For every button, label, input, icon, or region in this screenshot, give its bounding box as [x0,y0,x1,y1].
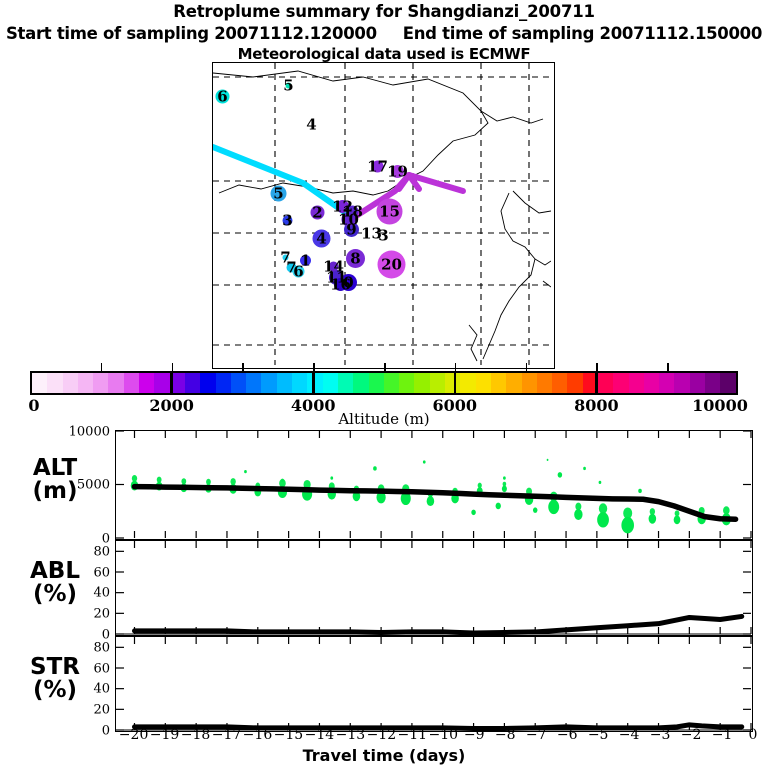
x-tick-label: −3 [650,727,671,743]
abl-panel[interactable] [115,540,753,636]
altitude-blob [423,460,426,463]
x-tick-label: −20 [119,727,149,743]
colorbar-swatch [47,373,62,393]
x-tick-label: −16 [243,727,273,743]
colorbar-swatch [185,373,200,393]
colorbar-swatch [139,373,154,393]
colorbar-swatch [292,373,307,393]
colorbar-swatch [399,373,414,393]
day-marker [377,199,403,225]
abl-y-tick-labels: 020406080 [58,540,110,636]
altitude-blob [471,510,476,516]
colorbar-tick [526,363,528,371]
colorbar-swatch [705,373,720,393]
colorbar-swatch [598,373,613,393]
altitude-blob [583,467,586,470]
y-tick-label: 0 [102,723,110,738]
colorbar-swatch [491,373,506,393]
day-marker [283,216,293,226]
altitude-blob [575,503,581,511]
altitude-blob [621,517,634,534]
x-tick-label: −7 [526,727,547,743]
x-tick-label: 0 [749,727,758,743]
y-tick-label: 20 [93,702,110,717]
colorbar-swatch [613,373,628,393]
colorbar-swatch [430,373,445,393]
colorbar-swatch [154,373,169,393]
colorbar-divider [312,371,315,395]
altitude-blob [638,489,642,493]
x-tick-label: −18 [181,727,211,743]
mean-altitude-line [134,487,735,520]
day-marker [329,262,339,272]
y-tick-label: 20 [93,606,110,621]
met-data-label: Meteorological data used is ECMWF [0,45,768,63]
x-tick-label: −11 [398,727,428,743]
day-marker [372,161,384,173]
day-marker [313,230,331,248]
colorbar-swatch [277,373,292,393]
colorbar-tick [667,363,669,371]
colorbar-swatch [506,373,521,393]
colorbar-swatch [231,373,246,393]
x-tick-label: −19 [150,727,180,743]
colorbar-swatch [629,373,644,393]
altitude-blob [330,476,333,479]
day-marker [283,255,289,261]
colorbar-swatch [674,373,689,393]
x-tick-label: −2 [681,727,702,743]
altitude-blob [548,500,559,514]
day-marker [311,206,325,220]
altitude-blob [157,477,162,483]
x-tick-label: −13 [336,727,366,743]
colorbar-swatch [93,373,108,393]
day-marker [286,83,292,89]
alt-plot-canvas [116,431,751,538]
y-tick-label: 5000 [77,478,110,493]
colorbar-divider [595,371,598,395]
y-tick-label: 80 [93,640,110,655]
colorbar-swatch [537,373,552,393]
y-tick-label: 10000 [69,424,110,439]
x-tick-label: −17 [212,727,242,743]
altitude-blob [181,478,186,484]
x-tick-label: −8 [495,727,516,743]
altitude-blob [574,509,582,520]
x-tick-label: −10 [429,727,459,743]
end-time-label: End time of sampling 20071112.150000 [403,24,762,43]
colorbar-swatch [567,373,582,393]
altitude-blob [675,510,680,516]
altitude-blob [502,485,507,492]
altitude-colorbar[interactable] [30,371,738,395]
day-marker [216,90,230,104]
altitude-blob [599,481,602,484]
colorbar-swatch [353,373,368,393]
x-tick-label: −1 [712,727,733,743]
colorbar-swatch [246,373,261,393]
colorbar-swatch [369,373,384,393]
altitude-blob [244,470,247,473]
colorbar-swatch [108,373,123,393]
y-tick-label: 60 [93,661,110,676]
altitude-blob [533,507,538,513]
colorbar-tick [172,363,174,371]
colorbar-tick [313,363,315,371]
colorbar-swatch [552,373,567,393]
colorbar-swatch [659,373,674,393]
page-title: Retroplume summary for Shangdianzi_20071… [0,2,768,21]
colorbar-ticks [30,363,738,371]
str-y-tick-labels: 020406080 [58,636,110,732]
day-marker [293,266,305,278]
retroplume-map[interactable]: 0123456789101112131415161718192045376 [212,62,555,369]
colorbar-swatch [522,373,537,393]
y-tick-label: 40 [93,586,110,601]
colorbar-swatch [124,373,139,393]
x-tick-label: −6 [557,727,578,743]
colorbar-swatch [261,373,276,393]
colorbar-swatch [216,373,231,393]
altitude-blob [427,496,435,506]
altitude-blob [373,466,377,470]
colorbar-swatch [720,373,735,393]
alt-panel[interactable] [115,430,753,540]
altitude-blob [597,512,609,527]
altitude-blob [496,503,501,510]
altitude-blob [503,482,507,487]
colorbar-swatch [460,373,475,393]
colorbar-swatch [78,373,93,393]
altitude-blob [649,514,657,524]
altitude-blob [723,506,730,514]
str-panel[interactable] [115,636,753,732]
day-marker [366,228,377,239]
day-marker [347,206,359,218]
colorbar-divider [170,371,173,395]
colorbar-title: Altitude (m) [0,410,768,428]
altitude-blob [547,459,549,461]
x-tick-label: −12 [367,727,397,743]
x-tick-label: −14 [305,727,335,743]
abl-plot-canvas [116,541,751,634]
altitude-blob [206,479,211,485]
day-marker [346,249,365,268]
start-time-label: Start time of sampling 20071112.120000 [6,24,377,43]
x-tick-label: −5 [588,727,609,743]
altitude-blob [623,507,632,518]
day-marker [334,278,347,291]
x-axis-title: Travel time (days) [0,746,768,765]
day-marker [271,186,287,202]
trajectory-line-cyan [213,147,353,218]
day-marker [378,251,406,279]
x-tick-label: −15 [274,727,304,743]
x-axis-tick-labels: −20−19−18−17−16−15−14−13−12−11−10−9−8−7−… [115,727,753,745]
altitude-blob [132,475,137,482]
altitude-blob [650,508,655,515]
colorbar-swatch [338,373,353,393]
altitude-blob [503,476,506,479]
colorbar-tick [242,363,244,371]
alt-y-tick-labels: 0500010000 [58,430,110,540]
colorbar-tick [101,363,103,371]
altitude-blob [230,478,235,485]
altitude-blob [674,515,681,524]
y-tick-label: 60 [93,565,110,580]
day-marker [300,255,311,266]
y-tick-label: 40 [93,682,110,697]
colorbar-tick [596,363,598,371]
altitude-blob [599,503,607,514]
colorbar-swatch [323,373,338,393]
sampling-times: Start time of sampling 20071112.120000 E… [0,24,768,43]
colorbar-swatch [384,373,399,393]
map-canvas [213,63,551,365]
day-marker [391,165,404,178]
str-plot-canvas [116,637,751,730]
colorbar-swatch [476,373,491,393]
colorbar-swatch [32,373,47,393]
altitude-blob [558,472,563,478]
x-tick-label: −4 [619,727,640,743]
colorbar-swatch [200,373,215,393]
colorbar-swatch [690,373,705,393]
colorbar-tick [455,363,457,371]
colorbar-tick [384,363,386,371]
altitude-blob [478,483,482,488]
x-tick-label: −9 [464,727,485,743]
series-line [134,616,741,633]
colorbar-swatch [414,373,429,393]
colorbar-swatch [644,373,659,393]
altitude-blob [281,479,284,482]
colorbar-swatch [307,373,322,393]
colorbar-divider [454,371,457,395]
colorbar-swatch [63,373,78,393]
y-tick-label: 80 [93,544,110,559]
